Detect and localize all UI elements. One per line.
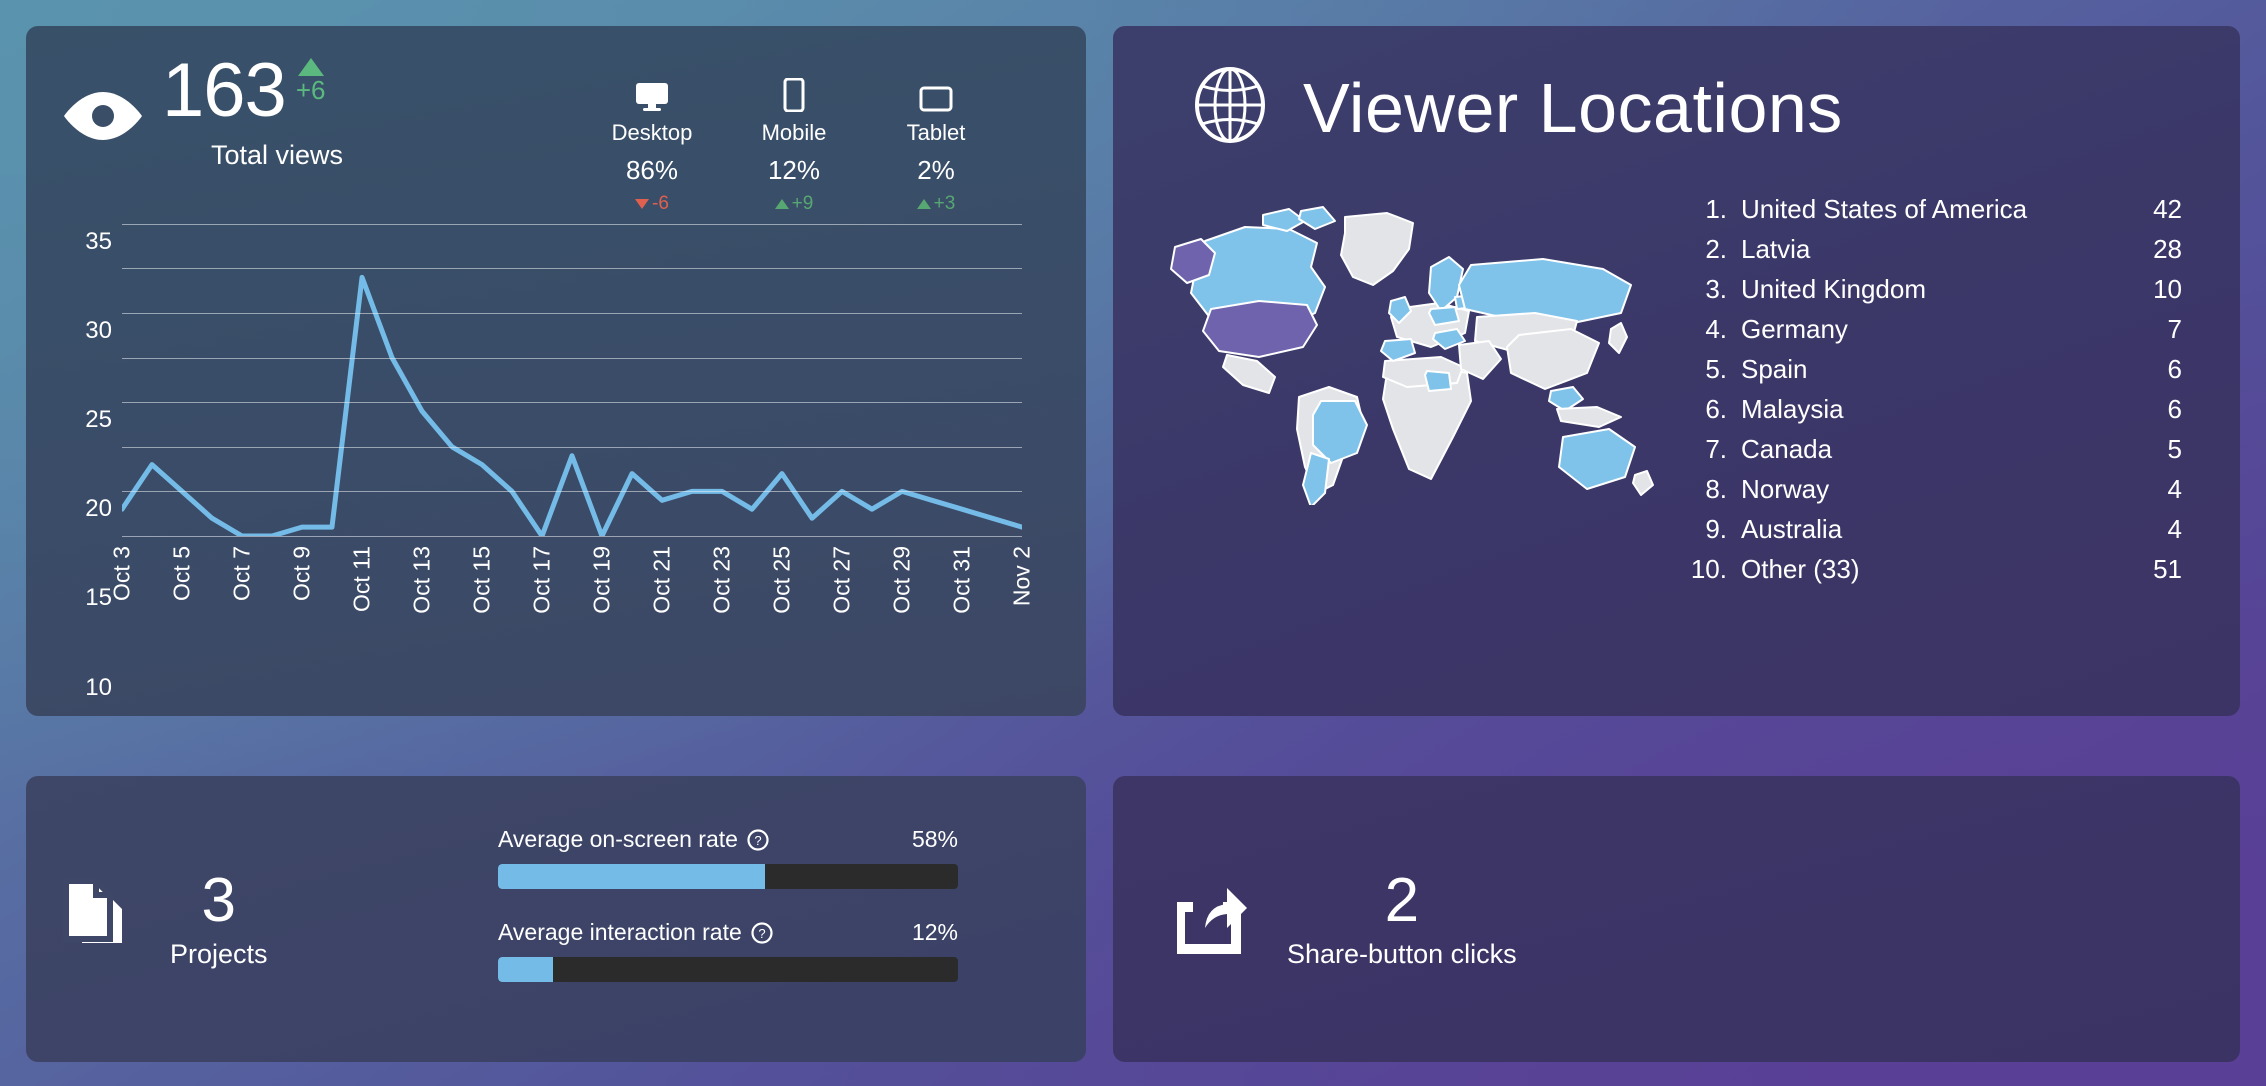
chart-x-tick-label: Oct 17 — [529, 546, 556, 614]
location-rank: 10. — [1677, 551, 1727, 587]
rate-bar: Average interaction rate?12% — [498, 919, 958, 982]
rate-bar-value: 12% — [912, 919, 958, 946]
share-clicks-card: 2 Share-button clicks — [1113, 776, 2240, 1062]
location-value: 4 — [2112, 511, 2182, 547]
location-name: Germany — [1727, 311, 2112, 347]
chart-gridline: 35 — [122, 224, 1022, 225]
locations-list: 1.United States of America422.Latvia283.… — [1677, 171, 2182, 589]
rate-bar-track — [498, 864, 958, 889]
total-views-label: Total views — [162, 140, 392, 171]
chart-x-tick-label: Oct 31 — [949, 546, 976, 614]
chart-x-tick-label: Oct 27 — [829, 546, 856, 614]
share-icon — [1169, 878, 1247, 961]
chart-plot-area: 35302520151050 — [122, 206, 1022, 536]
mobile-icon — [752, 74, 836, 112]
rate-bar-label: Average on-screen rate — [498, 826, 738, 853]
chart-x-tick-label: Oct 13 — [408, 546, 435, 614]
tablet-icon — [894, 74, 978, 112]
location-name: United States of America — [1727, 191, 2112, 227]
desktop-icon — [610, 74, 694, 112]
projects-label: Projects — [170, 939, 268, 970]
chart-gridline: 15 — [122, 402, 1022, 403]
chart-x-tick-label: Oct 3 — [109, 546, 136, 601]
location-name: Spain — [1727, 351, 2112, 387]
locations-body: 1.United States of America422.Latvia283.… — [1113, 149, 2240, 589]
projects-card: 3 Projects Average on-screen rate?58%Ave… — [26, 776, 1086, 1062]
projects-count: 3 — [170, 869, 268, 933]
rate-bars: Average on-screen rate?58%Average intera… — [498, 826, 958, 1012]
chart-gridline: 5 — [122, 491, 1022, 492]
share-clicks-label: Share-button clicks — [1287, 939, 1517, 970]
views-summary: 163 +6 Total views — [26, 26, 1086, 194]
location-value: 5 — [2112, 431, 2182, 467]
views-line-series — [122, 206, 1022, 536]
location-name: United Kingdom — [1727, 271, 2112, 307]
svg-text:?: ? — [758, 926, 765, 941]
device-name: Mobile — [752, 120, 836, 146]
chart-x-tick-label: Oct 19 — [589, 546, 616, 614]
page-title: Viewer Locations — [1303, 72, 1843, 144]
location-name: Other (33) — [1727, 551, 2112, 587]
location-value: 6 — [2112, 351, 2182, 387]
chart-x-tick-label: Oct 29 — [889, 546, 916, 614]
rate-bar-value: 58% — [912, 826, 958, 853]
location-value: 7 — [2112, 311, 2182, 347]
chart-x-tick-label: Oct 23 — [708, 546, 735, 614]
rate-bar-header: Average on-screen rate?58% — [498, 826, 958, 853]
rate-bar: Average on-screen rate?58% — [498, 826, 958, 889]
share-clicks-count: 2 — [1287, 869, 1517, 933]
rate-bar-fill — [498, 957, 553, 982]
location-value: 51 — [2112, 551, 2182, 587]
device-breakdown: Desktop 86% -6 Mobile 12% — [610, 52, 1052, 215]
device-percent: 86% — [610, 155, 694, 186]
location-name: Canada — [1727, 431, 2112, 467]
location-rank: 9. — [1677, 511, 1727, 547]
documents-icon — [60, 877, 136, 962]
rate-bar-fill — [498, 864, 765, 889]
device-percent: 2% — [894, 155, 978, 186]
location-name: Australia — [1727, 511, 2112, 547]
chart-x-tick-label: Oct 9 — [289, 546, 316, 601]
chart-y-tick-label: 25 — [85, 406, 112, 434]
eye-icon — [60, 90, 154, 147]
world-choropleth-map — [1159, 205, 1659, 505]
location-rank: 8. — [1677, 471, 1727, 507]
chart-y-tick-label: 35 — [85, 228, 112, 256]
chart-gridline: 30 — [122, 268, 1022, 269]
views-delta: +6 — [296, 58, 326, 103]
chart-x-tick-label: Oct 25 — [769, 546, 796, 614]
location-rank: 7. — [1677, 431, 1727, 467]
location-row[interactable]: 2.Latvia28 — [1677, 229, 2182, 269]
location-rank: 6. — [1677, 391, 1727, 427]
location-row[interactable]: 4.Germany7 — [1677, 309, 2182, 349]
chart-gridline: 20 — [122, 358, 1022, 359]
location-value: 6 — [2112, 391, 2182, 427]
location-name: Malaysia — [1727, 391, 2112, 427]
device-name: Desktop — [610, 120, 694, 146]
chart-gridline: 25 — [122, 313, 1022, 314]
location-name: Latvia — [1727, 231, 2112, 267]
device-percent: 12% — [752, 155, 836, 186]
rate-bar-label: Average interaction rate — [498, 919, 742, 946]
location-value: 10 — [2112, 271, 2182, 307]
total-views-value: 163 — [162, 52, 286, 130]
total-views-card: 163 +6 Total views — [26, 26, 1086, 716]
triangle-up-icon — [298, 58, 324, 76]
chart-x-tick-label: Oct 5 — [169, 546, 196, 601]
views-delta-value: +6 — [296, 77, 326, 103]
location-rank: 5. — [1677, 351, 1727, 387]
location-value: 28 — [2112, 231, 2182, 267]
chart-y-tick-label: 30 — [85, 317, 112, 345]
location-value: 42 — [2112, 191, 2182, 227]
location-rank: 4. — [1677, 311, 1727, 347]
location-row[interactable]: 10.Other (33)51 — [1677, 549, 2182, 589]
svg-text:?: ? — [754, 833, 761, 848]
location-rank: 1. — [1677, 191, 1727, 227]
help-icon[interactable]: ? — [751, 922, 773, 944]
chart-x-tick-label: Oct 7 — [229, 546, 256, 601]
chart-x-tick-label: Oct 11 — [349, 546, 376, 612]
location-row[interactable]: 1.United States of America42 — [1677, 189, 2182, 229]
analytics-dashboard: 163 +6 Total views — [0, 0, 2266, 1086]
viewer-locations-card: Viewer Locations — [1113, 26, 2240, 716]
views-line-chart: 35302520151050 Oct 3Oct 5Oct 7Oct 9Oct 1… — [62, 194, 1050, 699]
chart-y-tick-label: 10 — [85, 674, 112, 702]
views-stat: 163 +6 Total views — [162, 52, 392, 171]
location-row[interactable]: 3.United Kingdom10 — [1677, 269, 2182, 309]
device-name: Tablet — [894, 120, 978, 146]
location-row[interactable]: 7.Canada5 — [1677, 429, 2182, 469]
world-map — [1159, 171, 1659, 510]
chart-x-tick-label: Nov 2 — [1009, 546, 1036, 606]
help-icon[interactable]: ? — [747, 829, 769, 851]
chart-x-tick-label: Oct 21 — [649, 546, 676, 614]
chart-y-tick-label: 20 — [85, 495, 112, 523]
location-row[interactable]: 6.Malaysia6 — [1677, 389, 2182, 429]
locations-header: Viewer Locations — [1113, 26, 2240, 149]
location-row[interactable]: 5.Spain6 — [1677, 349, 2182, 389]
location-value: 4 — [2112, 471, 2182, 507]
chart-x-tick-label: Oct 15 — [469, 546, 496, 614]
chart-gridline: 10 — [122, 447, 1022, 448]
rate-bar-header: Average interaction rate?12% — [498, 919, 958, 946]
globe-icon — [1191, 66, 1269, 149]
rate-bar-track — [498, 957, 958, 982]
chart-x-axis: Oct 3Oct 5Oct 7Oct 9Oct 11Oct 13Oct 15Oc… — [122, 536, 1022, 666]
location-row[interactable]: 9.Australia4 — [1677, 509, 2182, 549]
location-row[interactable]: 8.Norway4 — [1677, 469, 2182, 509]
projects-summary: 3 Projects — [60, 869, 490, 970]
location-rank: 2. — [1677, 231, 1727, 267]
location-name: Norway — [1727, 471, 2112, 507]
location-rank: 3. — [1677, 271, 1727, 307]
